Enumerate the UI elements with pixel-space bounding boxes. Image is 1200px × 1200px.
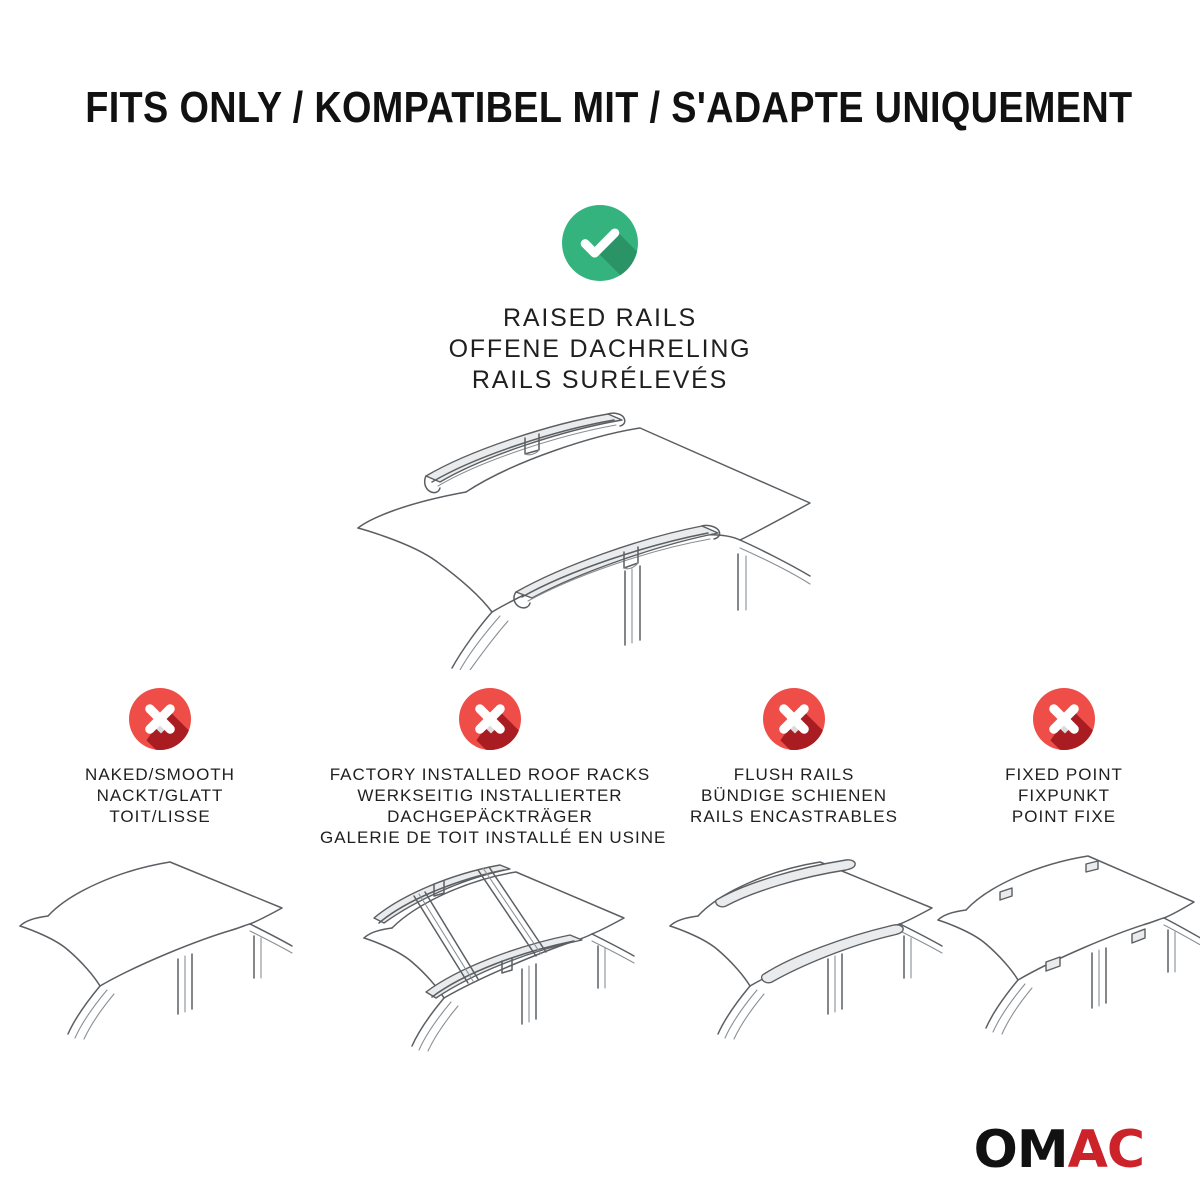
label-line-fr: RAILS ENCASTRABLES [660, 806, 928, 827]
cross-circle-icon [129, 688, 191, 750]
brand-logo: OMAC [974, 1122, 1144, 1178]
car-roof-factory-roof-racks-svg [330, 846, 650, 1061]
car-roof-flush-rails-svg [660, 846, 960, 1041]
incompatible-label-factory-roof-racks: FACTORY INSTALLED ROOF RACKS WERKSEITIG … [320, 764, 660, 848]
incompatible-column-fixed-point: FIXED POINT FIXPUNKT POINT FIXE [928, 688, 1200, 827]
cross-circle-icon [459, 688, 521, 750]
car-roof-raised-rails-svg [340, 400, 860, 670]
incompatible-label-fixed-point: FIXED POINT FIXPUNKT POINT FIXE [928, 764, 1200, 827]
label-line-fr: GALERIE DE TOIT INSTALLÉ EN USINE [320, 827, 660, 848]
incompatible-labels-row: NAKED/SMOOTH NACKT/GLATT TOIT/LISSE FACT… [0, 688, 1200, 848]
label-line-fr: TOIT/LISSE [0, 806, 320, 827]
compatible-label-en: RAISED RAILS [0, 303, 1200, 334]
compatible-label-fr: RAILS SURÉLEVÉS [0, 365, 1200, 396]
compatible-label: RAISED RAILS OFFENE DACHRELING RAILS SUR… [0, 303, 1200, 396]
page-title: FITS ONLY / KOMPATIBEL MIT / S'ADAPTE UN… [0, 82, 1200, 134]
car-roof-naked-smooth-illustration [0, 846, 320, 1041]
label-line-en: NAKED/SMOOTH [0, 764, 320, 785]
incompatible-illustrations-row [0, 846, 1200, 1061]
car-roof-factory-roof-racks-illustration [320, 846, 660, 1061]
label-line-en: FLUSH RAILS [660, 764, 928, 785]
brand-logo-part1: OM [974, 1120, 1068, 1180]
label-line-en: FACTORY INSTALLED ROOF RACKS [320, 764, 660, 785]
cross-circle-icon [1033, 688, 1095, 750]
compatible-section: RAISED RAILS OFFENE DACHRELING RAILS SUR… [0, 205, 1200, 396]
check-circle-icon [562, 205, 638, 281]
incompatible-column-naked-smooth: NAKED/SMOOTH NACKT/GLATT TOIT/LISSE [0, 688, 320, 827]
car-roof-flush-rails-illustration [660, 846, 928, 1041]
car-roof-raised-rails-illustration [0, 400, 1200, 670]
label-line-de: NACKT/GLATT [0, 785, 320, 806]
incompatible-label-flush-rails: FLUSH RAILS BÜNDIGE SCHIENEN RAILS ENCAS… [660, 764, 928, 827]
cross-circle-icon [763, 688, 825, 750]
label-line-fr: POINT FIXE [928, 806, 1200, 827]
label-line-de: WERKSEITIG INSTALLIERTER [320, 785, 660, 806]
label-line-de: FIXPUNKT [928, 785, 1200, 806]
incompatible-column-flush-rails: FLUSH RAILS BÜNDIGE SCHIENEN RAILS ENCAS… [660, 688, 928, 827]
label-line-de: BÜNDIGE SCHIENEN [660, 785, 928, 806]
label-line-en: FIXED POINT [928, 764, 1200, 785]
incompatible-label-naked-smooth: NAKED/SMOOTH NACKT/GLATT TOIT/LISSE [0, 764, 320, 827]
car-roof-naked-smooth-svg [10, 846, 310, 1041]
car-roof-fixed-point-illustration [928, 846, 1200, 1041]
car-roof-fixed-point-svg [928, 846, 1200, 1041]
page-title-text: FITS ONLY / KOMPATIBEL MIT / S'ADAPTE UN… [85, 82, 1132, 134]
brand-logo-part2: AC [1068, 1120, 1144, 1180]
compatible-label-de: OFFENE DACHRELING [0, 334, 1200, 365]
incompatible-column-factory-roof-racks: FACTORY INSTALLED ROOF RACKS WERKSEITIG … [320, 688, 660, 848]
label-line-de2: DACHGEPÄCKTRÄGER [320, 806, 660, 827]
